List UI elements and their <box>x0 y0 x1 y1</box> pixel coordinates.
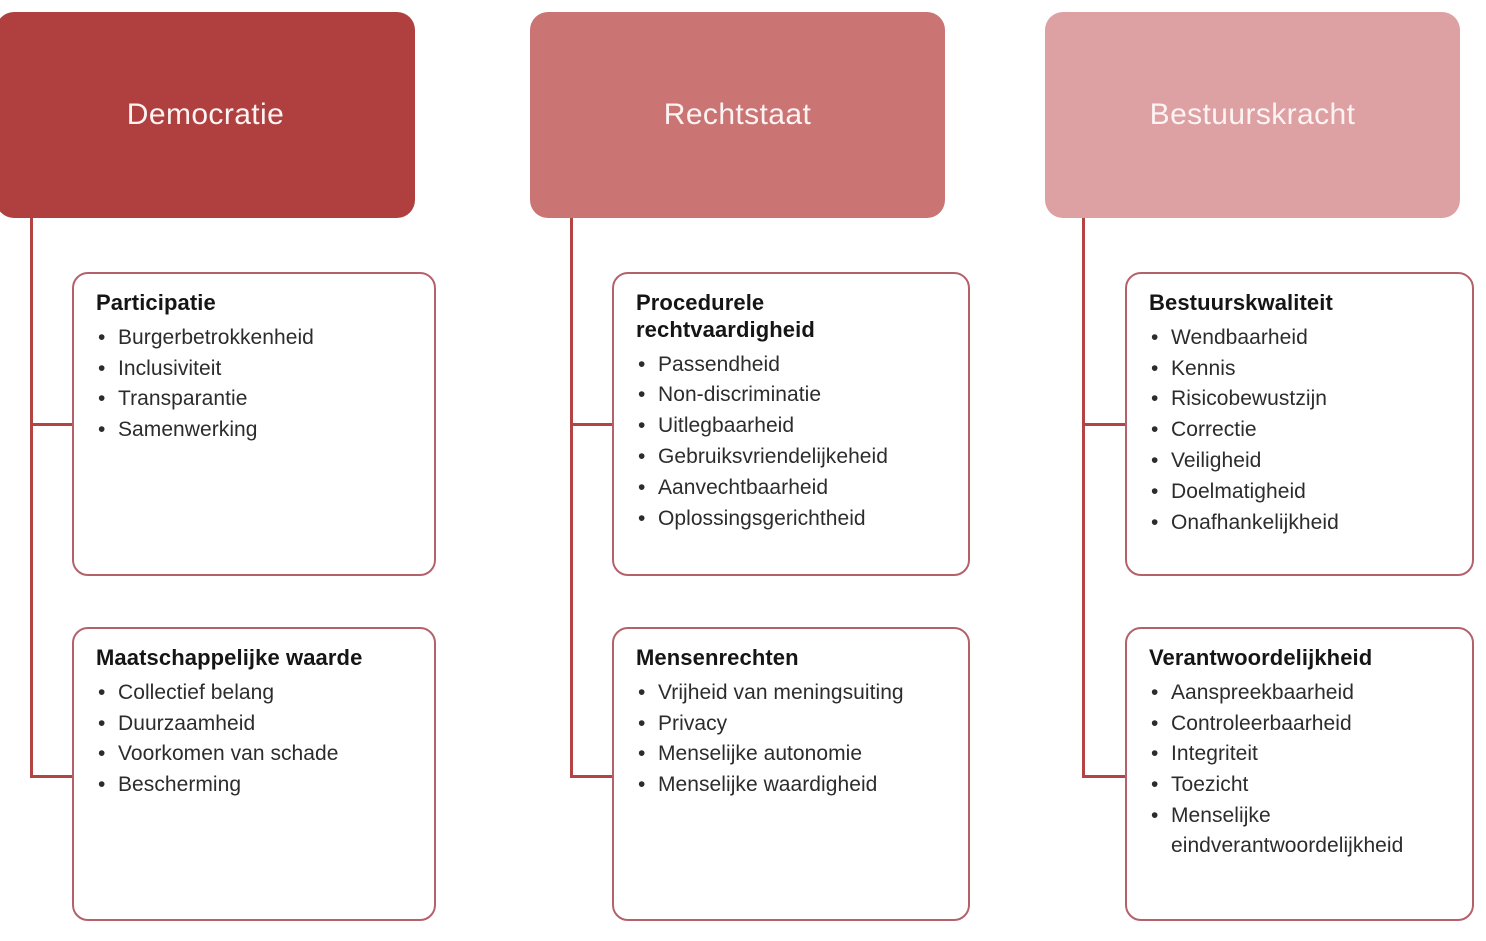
list-item-label: Non-discriminatie <box>658 383 821 406</box>
connector-stub-bestuurskracht-verantwoordelijkheid <box>1082 775 1127 778</box>
card-mensenrechten[interactable]: Mensenrechten •Vrijheid van meningsuitin… <box>612 627 970 921</box>
card-title-bestuurskwaliteit: Bestuurskwaliteit <box>1149 290 1454 317</box>
list-item-label: Menselijke autonomie <box>658 742 862 765</box>
connector-stub-democratie-participatie <box>30 423 74 426</box>
list-item-label: Doelmatigheid <box>1171 480 1306 503</box>
list-item-label: Risicobewustzijn <box>1171 387 1327 410</box>
list-item: •Duurzaamheid <box>96 709 416 739</box>
connector-stub-rechtstaat-procedurele-rechtvaardigheid <box>570 423 614 426</box>
card-list-mensenrechten: •Vrijheid van meningsuiting •Privacy •Me… <box>636 678 950 800</box>
bullet-icon: • <box>98 323 105 353</box>
list-item: •Doelmatigheid <box>1149 477 1454 507</box>
list-item-label: Correctie <box>1171 418 1257 441</box>
list-item: •Aanspreekbaarheid <box>1149 678 1454 708</box>
bullet-icon: • <box>638 739 645 769</box>
bullet-icon: • <box>98 770 105 800</box>
list-item-label: Duurzaamheid <box>118 712 255 735</box>
list-item: •Collectief belang <box>96 678 416 708</box>
pillar-header-rechtstaat[interactable]: Rechtstaat <box>530 12 945 218</box>
bullet-icon: • <box>638 709 645 739</box>
list-item: •Uitlegbaarheid <box>636 411 950 441</box>
list-item: •Onafhankelijkheid <box>1149 508 1454 538</box>
list-item: •Inclusiviteit <box>96 354 416 384</box>
connector-stub-rechtstaat-mensenrechten <box>570 775 614 778</box>
bullet-icon: • <box>1151 709 1158 739</box>
list-item: •Wendbaarheid <box>1149 323 1454 353</box>
card-list-maatschappelijke-waarde: •Collectief belang •Duurzaamheid •Voorko… <box>96 678 416 800</box>
list-item-label: Voorkomen van schade <box>118 742 338 765</box>
list-item: •Menselijke autonomie <box>636 739 950 769</box>
bullet-icon: • <box>1151 801 1158 831</box>
bullet-icon: • <box>638 504 645 534</box>
list-item: •Vrijheid van meningsuiting <box>636 678 950 708</box>
connector-stub-bestuurskracht-bestuurskwaliteit <box>1082 423 1127 426</box>
bullet-icon: • <box>1151 477 1158 507</box>
card-participatie[interactable]: Participatie •Burgerbetrokkenheid •Inclu… <box>72 272 436 576</box>
list-item: •Toezicht <box>1149 770 1454 800</box>
card-maatschappelijke-waarde[interactable]: Maatschappelijke waarde •Collectief bela… <box>72 627 436 921</box>
card-procedurele-rechtvaardigheid[interactable]: Procedurele rechtvaardigheid •Passendhei… <box>612 272 970 576</box>
bullet-icon: • <box>98 678 105 708</box>
bullet-icon: • <box>1151 739 1158 769</box>
list-item-label: Gebruiksvriendelijkeheid <box>658 445 888 468</box>
bullet-icon: • <box>98 709 105 739</box>
bullet-icon: • <box>1151 415 1158 445</box>
list-item: •Correctie <box>1149 415 1454 445</box>
list-item-label: Menselijke eindverantwoordelijkheid <box>1171 804 1403 857</box>
card-title-verantwoordelijkheid: Verantwoordelijkheid <box>1149 645 1454 672</box>
list-item: •Menselijke eindverantwoordelijkheid <box>1149 801 1454 861</box>
list-item-label: Passendheid <box>658 353 780 376</box>
list-item: •Burgerbetrokkenheid <box>96 323 416 353</box>
bullet-icon: • <box>638 678 645 708</box>
pillar-title-rechtstaat: Rechtstaat <box>664 97 811 133</box>
card-title-participatie: Participatie <box>96 290 416 317</box>
connector-stub-democratie-maatschappelijke-waarde <box>30 775 74 778</box>
list-item: •Bescherming <box>96 770 416 800</box>
card-list-verantwoordelijkheid: •Aanspreekbaarheid •Controleerbaarheid •… <box>1149 678 1454 861</box>
pillar-title-democratie: Democratie <box>127 97 284 133</box>
list-item-label: Samenwerking <box>118 418 258 441</box>
pillar-header-bestuurskracht[interactable]: Bestuurskracht <box>1045 12 1460 218</box>
organization-diagram: Democratie Participatie •Burgerbetrokken… <box>0 0 1486 941</box>
list-item: •Samenwerking <box>96 415 416 445</box>
list-item: •Oplossingsgerichtheid <box>636 504 950 534</box>
connector-trunk-rechtstaat <box>570 218 573 778</box>
connector-trunk-democratie <box>30 218 33 778</box>
list-item-label: Bescherming <box>118 773 241 796</box>
list-item-label: Burgerbetrokkenheid <box>118 326 314 349</box>
list-item-label: Controleerbaarheid <box>1171 712 1352 735</box>
list-item-label: Menselijke waardigheid <box>658 773 877 796</box>
bullet-icon: • <box>1151 384 1158 414</box>
list-item: •Aanvechtbaarheid <box>636 473 950 503</box>
bullet-icon: • <box>1151 354 1158 384</box>
connector-trunk-bestuurskracht <box>1082 218 1085 778</box>
bullet-icon: • <box>1151 323 1158 353</box>
list-item: •Risicobewustzijn <box>1149 384 1454 414</box>
card-title-mensenrechten: Mensenrechten <box>636 645 950 672</box>
list-item-label: Transparantie <box>118 387 247 410</box>
list-item-label: Aanvechtbaarheid <box>658 476 828 499</box>
card-title-procedurele-rechtvaardigheid: Procedurele rechtvaardigheid <box>636 290 836 344</box>
list-item: •Privacy <box>636 709 950 739</box>
list-item-label: Kennis <box>1171 357 1236 380</box>
list-item: •Non-discriminatie <box>636 380 950 410</box>
list-item-label: Integriteit <box>1171 742 1258 765</box>
list-item: •Transparantie <box>96 384 416 414</box>
list-item-label: Toezicht <box>1171 773 1248 796</box>
bullet-icon: • <box>638 411 645 441</box>
bullet-icon: • <box>1151 678 1158 708</box>
card-list-participatie: •Burgerbetrokkenheid •Inclusiviteit •Tra… <box>96 323 416 445</box>
list-item-label: Wendbaarheid <box>1171 326 1308 349</box>
list-item: •Menselijke waardigheid <box>636 770 950 800</box>
bullet-icon: • <box>638 380 645 410</box>
card-list-procedurele-rechtvaardigheid: •Passendheid •Non-discriminatie •Uitlegb… <box>636 350 950 534</box>
list-item: •Kennis <box>1149 354 1454 384</box>
list-item-label: Inclusiviteit <box>118 357 221 380</box>
bullet-icon: • <box>98 354 105 384</box>
bullet-icon: • <box>638 473 645 503</box>
list-item: •Voorkomen van schade <box>96 739 416 769</box>
list-item-label: Vrijheid van meningsuiting <box>658 681 904 704</box>
card-list-bestuurskwaliteit: •Wendbaarheid •Kennis •Risicobewustzijn … <box>1149 323 1454 538</box>
card-title-maatschappelijke-waarde: Maatschappelijke waarde <box>96 645 416 672</box>
bullet-icon: • <box>1151 508 1158 538</box>
bullet-icon: • <box>638 350 645 380</box>
bullet-icon: • <box>1151 770 1158 800</box>
list-item-label: Oplossingsgerichtheid <box>658 507 866 530</box>
card-verantwoordelijkheid[interactable]: Verantwoordelijkheid •Aanspreekbaarheid … <box>1125 627 1474 921</box>
bullet-icon: • <box>1151 446 1158 476</box>
list-item-label: Uitlegbaarheid <box>658 414 794 437</box>
bullet-icon: • <box>98 415 105 445</box>
list-item: •Passendheid <box>636 350 950 380</box>
list-item: •Controleerbaarheid <box>1149 709 1454 739</box>
list-item-label: Aanspreekbaarheid <box>1171 681 1354 704</box>
list-item-label: Privacy <box>658 712 727 735</box>
bullet-icon: • <box>98 384 105 414</box>
pillar-header-democratie[interactable]: Democratie <box>0 12 415 218</box>
bullet-icon: • <box>98 739 105 769</box>
list-item-label: Collectief belang <box>118 681 274 704</box>
list-item: •Integriteit <box>1149 739 1454 769</box>
bullet-icon: • <box>638 770 645 800</box>
card-bestuurskwaliteit[interactable]: Bestuurskwaliteit •Wendbaarheid •Kennis … <box>1125 272 1474 576</box>
list-item-label: Onafhankelijkheid <box>1171 511 1339 534</box>
pillar-title-bestuurskracht: Bestuurskracht <box>1150 97 1356 133</box>
list-item: •Gebruiksvriendelijkeheid <box>636 442 950 472</box>
list-item-label: Veiligheid <box>1171 449 1261 472</box>
list-item: •Veiligheid <box>1149 446 1454 476</box>
bullet-icon: • <box>638 442 645 472</box>
